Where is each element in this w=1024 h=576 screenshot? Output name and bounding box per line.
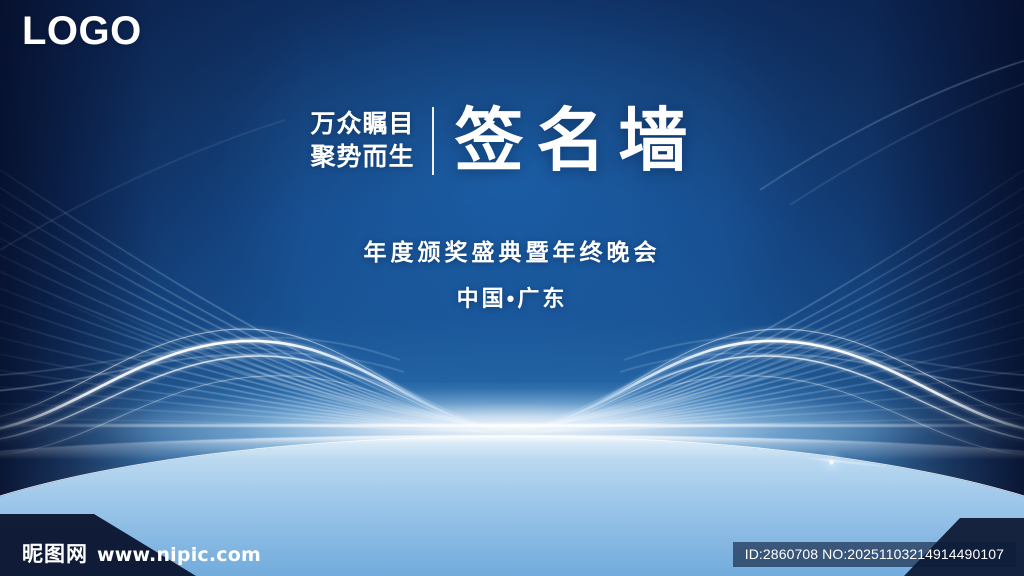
location-text: 中国•广东	[0, 281, 1024, 313]
poster-canvas: LOGO 万众瞩目 聚势而生 签名墙 年度颁奖盛典暨年终晚会 中国•广东 昵图网…	[0, 0, 1024, 576]
id-badge: ID:2860708 NO:20251103214914490107	[733, 542, 1016, 567]
watermark-url: www.nipic.com	[97, 546, 261, 565]
tagline-line-1: 万众瞩目	[310, 108, 414, 141]
title-block: 万众瞩目 聚势而生 签名墙	[0, 106, 1024, 175]
tagline-line-2: 聚势而生	[310, 141, 414, 174]
watermark-site-name: 昵图网	[22, 544, 88, 565]
poster-content: LOGO 万众瞩目 聚势而生 签名墙 年度颁奖盛典暨年终晚会 中国•广东 昵图网…	[0, 0, 1024, 576]
title-divider	[432, 107, 434, 175]
watermark: 昵图网 www.nipic.com	[22, 544, 261, 565]
subtitle: 年度颁奖盛典暨年终晚会	[0, 233, 1024, 267]
logo-text: LOGO	[22, 11, 142, 51]
tagline: 万众瞩目 聚势而生	[310, 108, 431, 173]
page-title: 签名墙	[455, 106, 714, 175]
